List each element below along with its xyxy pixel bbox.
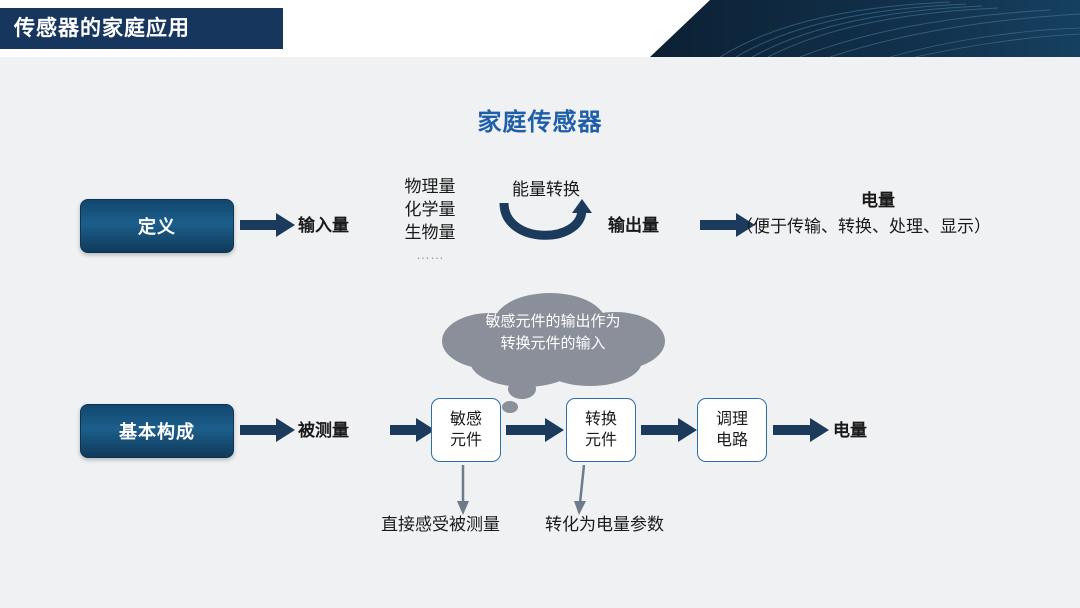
sensing-element-line-2: 元件 <box>450 430 482 451</box>
conditioning-circuit-box[interactable]: 调理 电路 <box>697 398 767 462</box>
arrow-conversion-down-icon <box>566 465 596 515</box>
header-decoration-icon <box>650 0 1080 57</box>
sensing-note-text: 直接感受被测量 <box>381 513 500 536</box>
energy-conversion-arrow-icon <box>488 199 598 259</box>
electric-quantity-note: （便于传输、转换、处理、显示） <box>736 215 991 238</box>
slide-header: 传感器的家庭应用 <box>0 0 1080 57</box>
quantity-line-4: …… <box>380 243 480 266</box>
row2-electric-quantity-text: 电量 <box>833 419 867 442</box>
conversion-element-box[interactable]: 转换 元件 <box>566 398 636 462</box>
arrow-measured-to-sensor-icon <box>390 417 435 443</box>
arrow-structure-to-measured-icon <box>240 417 295 443</box>
electric-quantity-title: 电量 <box>861 189 895 212</box>
definition-label-box[interactable]: 定义 <box>80 199 234 253</box>
conversion-note-text: 转化为电量参数 <box>545 513 664 536</box>
quantity-line-2: 化学量 <box>380 198 480 221</box>
definition-label-text: 定义 <box>138 213 176 239</box>
arrow-conditioning-to-electric-icon <box>773 417 829 443</box>
output-quantity-text: 输出量 <box>608 214 659 237</box>
arrow-definition-to-input-icon <box>240 212 295 238</box>
sensing-element-line-1: 敏感 <box>450 409 482 430</box>
quantity-line-3: 生物量 <box>380 221 480 244</box>
measured-quantity-text: 被测量 <box>298 419 349 442</box>
basic-structure-label-text: 基本构成 <box>119 418 195 444</box>
basic-structure-label-box[interactable]: 基本构成 <box>80 404 234 458</box>
sensing-element-box[interactable]: 敏感 元件 <box>431 398 501 462</box>
conversion-element-line-1: 转换 <box>585 409 617 430</box>
slide-title: 家庭传感器 <box>0 102 1080 137</box>
header-title: 传感器的家庭应用 <box>14 15 190 42</box>
conditioning-circuit-line-2: 电路 <box>716 430 748 451</box>
arrow-sensing-down-icon <box>447 465 477 515</box>
slide-body: 家庭传感器 定义 输入量 物理量 化学量 生物量 …… 能量转换 输出量 电量 … <box>0 57 1080 608</box>
cloud-text-line-2: 转换元件的输入 <box>430 333 676 355</box>
conversion-element-line-2: 元件 <box>585 430 617 451</box>
quantity-line-1: 物理量 <box>380 175 480 198</box>
energy-conversion-text: 能量转换 <box>486 175 606 200</box>
cloud-text-line-1: 敏感元件的输出作为 <box>430 311 676 333</box>
conditioning-circuit-line-1: 调理 <box>716 409 748 430</box>
input-quantity-text: 输入量 <box>298 214 349 237</box>
cloud-text: 敏感元件的输出作为 转换元件的输入 <box>430 311 676 355</box>
arrow-sensing-to-conversion-icon <box>506 417 564 443</box>
arrow-conversion-to-conditioning-icon <box>641 417 697 443</box>
